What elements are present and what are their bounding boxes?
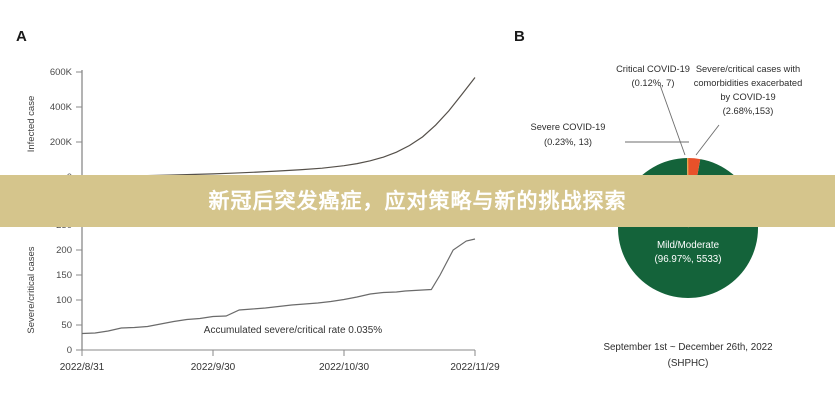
severe-ytick-label-100: 100: [56, 295, 72, 306]
severe-ytick-label-150: 150: [56, 270, 72, 281]
severe-ytick-label-0: 0: [67, 345, 72, 356]
callout-severe-critical-comorbidities: Severe/critical cases with comorbidities…: [694, 64, 803, 116]
figure-root: A 0 200K 400K 600K Infected case: [0, 0, 835, 400]
callout-mild-line2: (96.97%, 5533): [655, 254, 722, 265]
severe-xtick-label-1: 2022/8/31: [60, 362, 105, 373]
pie-caption-line2: (SHPHC): [668, 358, 709, 369]
watermark-overlay-band: 新冠后突发癌症，应对策略与新的挑战探索: [0, 175, 835, 227]
callout-comorb-line2: comorbidities exacerbated: [694, 78, 803, 88]
infected-case-series-line: [82, 78, 475, 177]
accumulated-rate-annotation: Accumulated severe/critical rate 0.035%: [204, 325, 383, 336]
callout-critical-covid-19: Critical COVID-19 (0.12%, 7): [616, 64, 690, 88]
pie-caption-line1: September 1st ~ December 26th, 2022: [603, 342, 772, 353]
severe-ytick-label-200: 200: [56, 245, 72, 256]
leader-line-comorbidities: [696, 125, 719, 155]
callout-mild-line1: Mild/Moderate: [657, 240, 720, 251]
severe-ytick-label-50: 50: [61, 320, 72, 331]
callout-severe-line2: (0.23%, 13): [544, 137, 592, 147]
callout-comorb-line3: by COVID-19: [720, 92, 775, 102]
infected-y-axis-title: Infected case: [26, 96, 37, 153]
severe-y-axis-title: Severe/critical cases: [26, 246, 37, 333]
severe-xtick-label-3: 2022/10/30: [319, 362, 369, 373]
callout-severe-line1: Severe COVID-19: [531, 122, 606, 132]
infected-ytick-label-600k: 600K: [50, 67, 73, 78]
infected-ytick-label-400k: 400K: [50, 102, 73, 113]
callout-severe-covid-19: Severe COVID-19 (0.23%, 13): [531, 122, 606, 147]
severe-xtick-label-2: 2022/9/30: [191, 362, 236, 373]
callout-critical-line1: Critical COVID-19: [616, 64, 690, 74]
callout-comorb-line1: Severe/critical cases with: [696, 64, 800, 74]
callout-comorb-line4: (2.68%,153): [723, 106, 774, 116]
severe-critical-series-line: [82, 239, 475, 334]
leader-line-critical: [660, 85, 685, 155]
severe-xtick-label-4: 2022/11/29: [450, 362, 500, 373]
infected-ytick-label-200k: 200K: [50, 137, 73, 148]
watermark-overlay-text: 新冠后突发癌症，应对策略与新的挑战探索: [209, 191, 627, 212]
severe-critical-chart: 0 50 100 150 200 250 Severe/critical cas…: [26, 220, 500, 373]
callout-critical-line2: (0.12%, 7): [632, 78, 675, 88]
